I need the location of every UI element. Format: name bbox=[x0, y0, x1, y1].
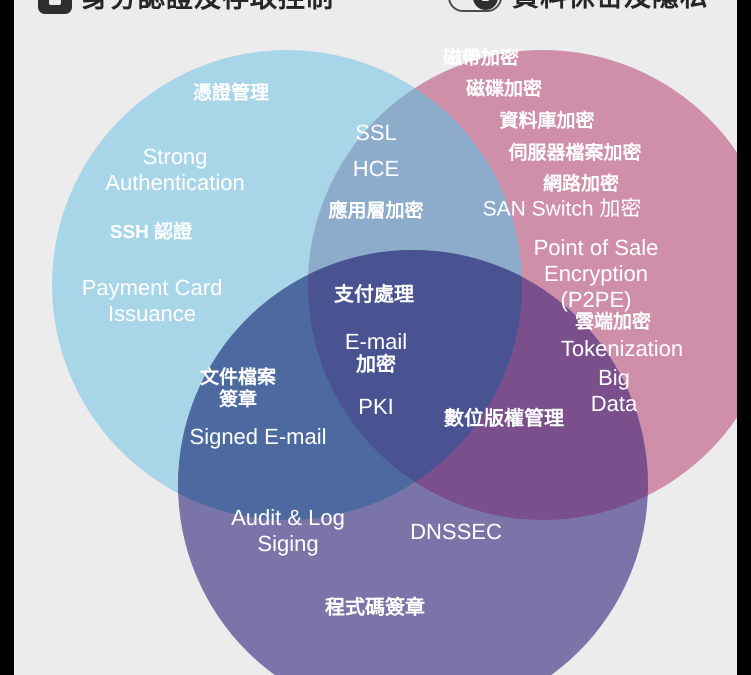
right-edge-bar bbox=[737, 0, 751, 675]
venn-labels: 憑證管理 Strong Authentication SSH 認證 Paymen… bbox=[0, 22, 751, 675]
left-edge-bar bbox=[0, 0, 14, 675]
header-title-privacy: 資料保密及隱私 bbox=[512, 0, 708, 11]
label-privacy-0: 磁帶加密 bbox=[443, 48, 519, 70]
lock-toggle-icon bbox=[448, 0, 502, 12]
label-identity-integrity-0: 文件檔案 簽章 bbox=[200, 368, 276, 413]
label-privacy-6: Point of Sale Encryption (P2PE) bbox=[519, 235, 674, 313]
header-title-identity: 身分認證及存取控制 bbox=[82, 0, 334, 12]
header-group-privacy: 資料保密及隱私 bbox=[448, 0, 708, 12]
label-privacy-7: 雲端加密 bbox=[575, 312, 651, 334]
slide-header: 身分認證及存取控制 資料保密及隱私 bbox=[0, 0, 751, 22]
header-group-identity: 身分認證及存取控制 bbox=[38, 0, 334, 14]
label-privacy-8: Tokenization bbox=[561, 336, 683, 362]
venn-diagram-slide: 身分認證及存取控制 資料保密及隱私 bbox=[0, 0, 751, 675]
label-center-2: 加密 bbox=[356, 354, 396, 378]
label-identity-privacy-1: HCE bbox=[353, 156, 399, 182]
label-identity-3: Payment Card Issuance bbox=[82, 275, 223, 327]
label-identity-integrity-1: Signed E-mail bbox=[190, 424, 327, 450]
label-identity-privacy-0: SSL bbox=[355, 120, 397, 146]
label-center-1: E-mail bbox=[345, 329, 407, 355]
label-privacy-5: SAN Switch 加密 bbox=[483, 198, 642, 223]
lock-badge-icon bbox=[38, 0, 72, 14]
label-privacy-3: 伺服器檔案加密 bbox=[508, 143, 641, 165]
label-privacy-2: 資料庫加密 bbox=[499, 111, 594, 133]
label-identity-2: SSH 認證 bbox=[110, 222, 192, 244]
label-privacy-4: 網路加密 bbox=[543, 174, 619, 196]
label-identity-0: 憑證管理 bbox=[193, 83, 269, 105]
label-privacy-integrity-0: 數位版權管理 bbox=[444, 408, 564, 432]
label-identity-privacy-2: 應用層加密 bbox=[328, 201, 423, 223]
label-integrity-2: 程式碼簽章 bbox=[325, 597, 425, 621]
label-identity-1: Strong Authentication bbox=[105, 144, 244, 196]
label-privacy-9: Big Data bbox=[591, 365, 637, 417]
label-center-3: PKI bbox=[358, 394, 393, 420]
label-integrity-1: DNSSEC bbox=[410, 519, 502, 545]
label-integrity-0: Audit & Log Siging bbox=[231, 505, 345, 557]
label-center-0: 支付處理 bbox=[334, 284, 414, 308]
label-privacy-1: 磁碟加密 bbox=[466, 79, 542, 101]
